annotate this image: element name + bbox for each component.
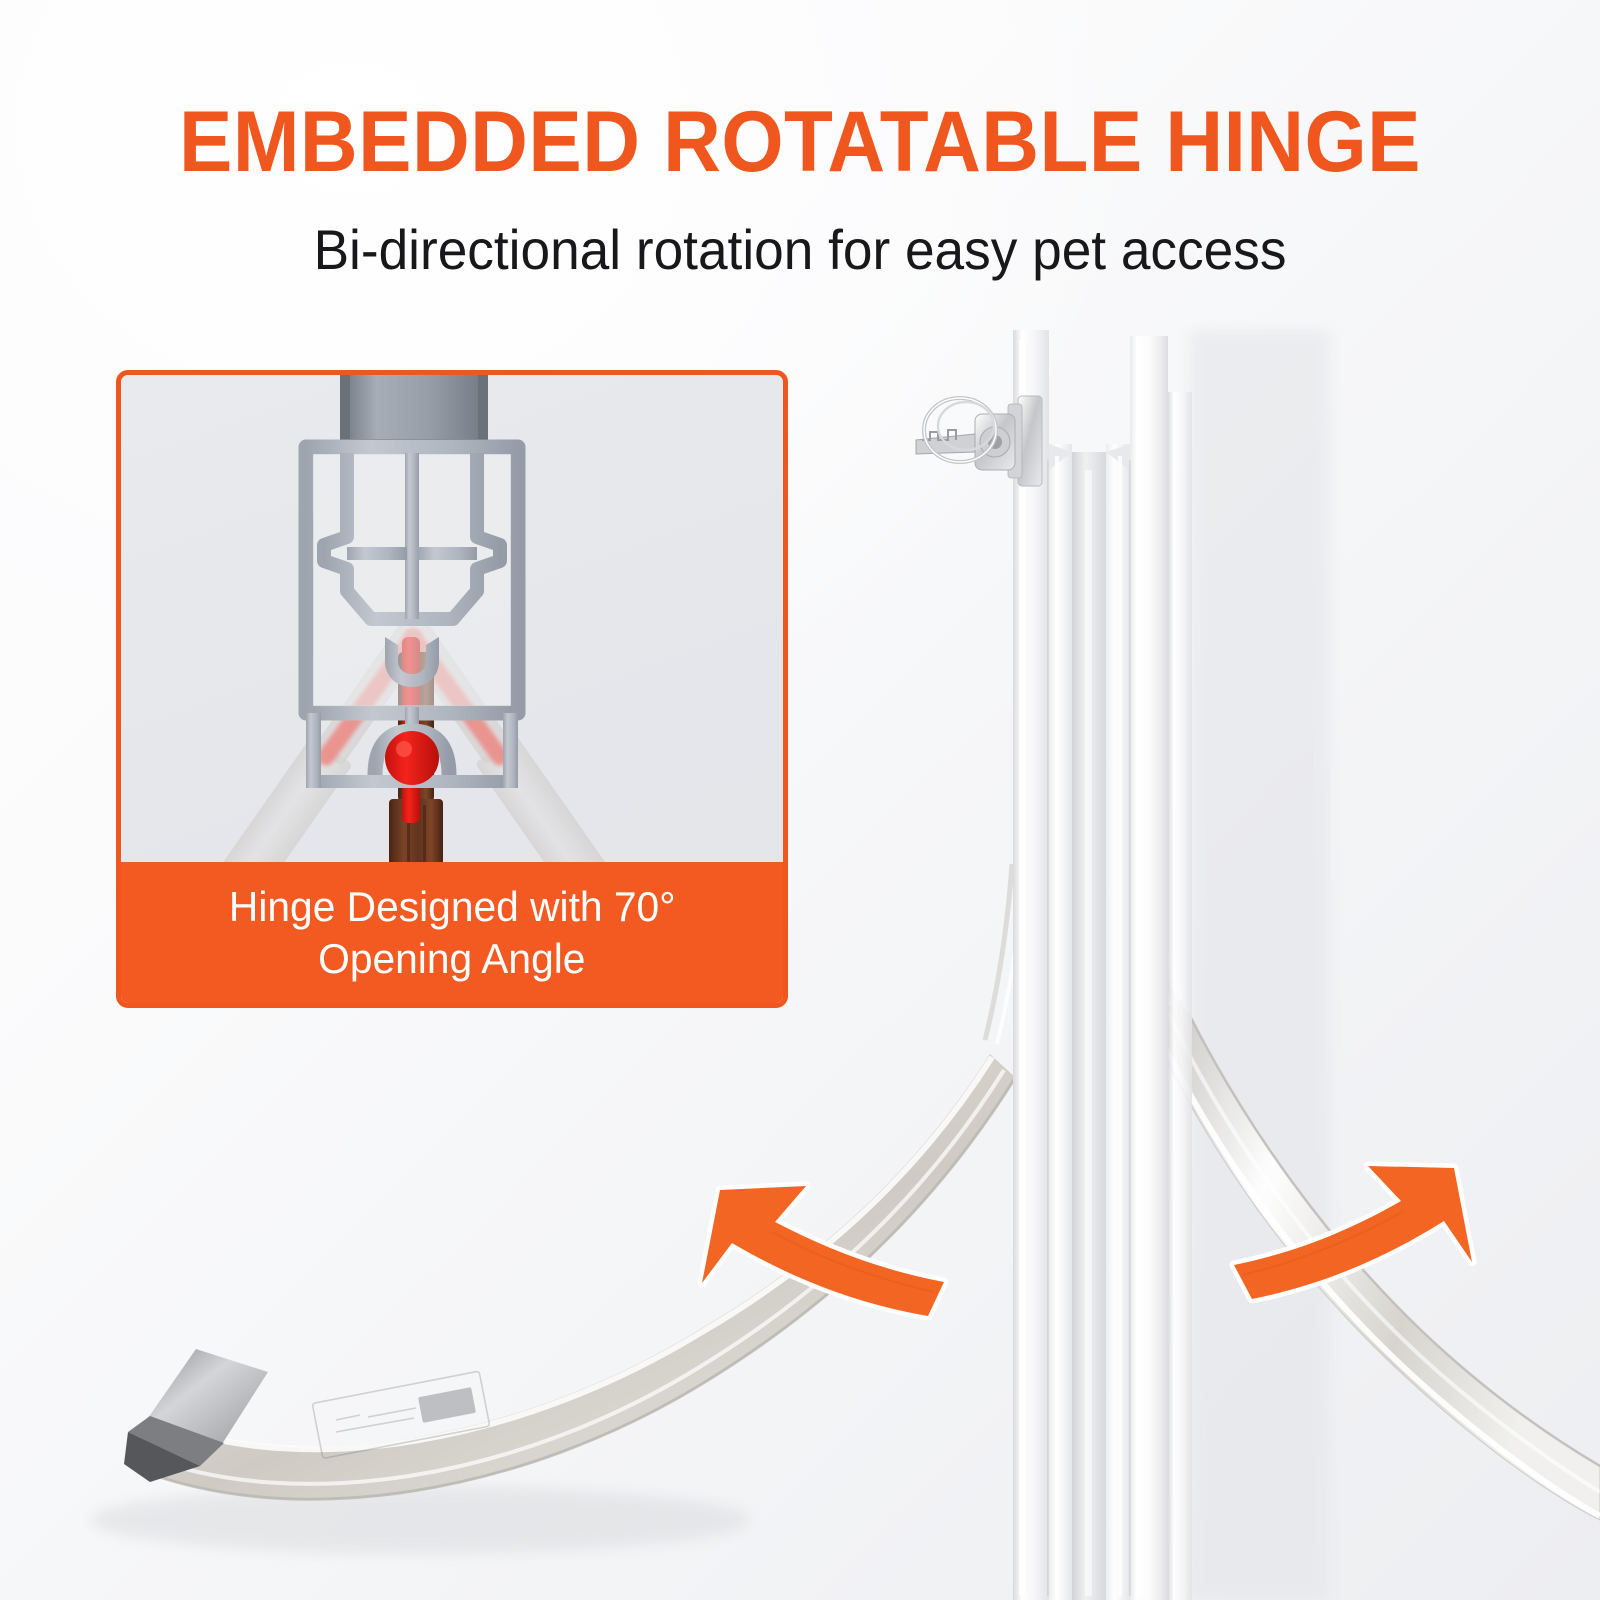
hinge-detail-panel: Hinge Designed with 70° Opening Angle [116, 370, 788, 1008]
rotation-arrow-right [1234, 1166, 1472, 1299]
page-title: EMBEDDED ROTATABLE HINGE [56, 94, 1544, 190]
caption-line-2: Opening Angle [318, 933, 585, 985]
rotation-arrow-left [702, 1186, 944, 1316]
page-subtitle: Bi-directional rotation for easy pet acc… [40, 216, 1560, 284]
marketing-image-canvas: EMBEDDED ROTATABLE HINGE Bi-directional … [0, 0, 1600, 1600]
pivot-highlight [396, 741, 412, 757]
hinge-pivot-ball [385, 731, 439, 785]
caption-line-1: Hinge Designed with 70° [229, 881, 676, 933]
panel-caption: Hinge Designed with 70° Opening Angle [121, 862, 783, 1003]
